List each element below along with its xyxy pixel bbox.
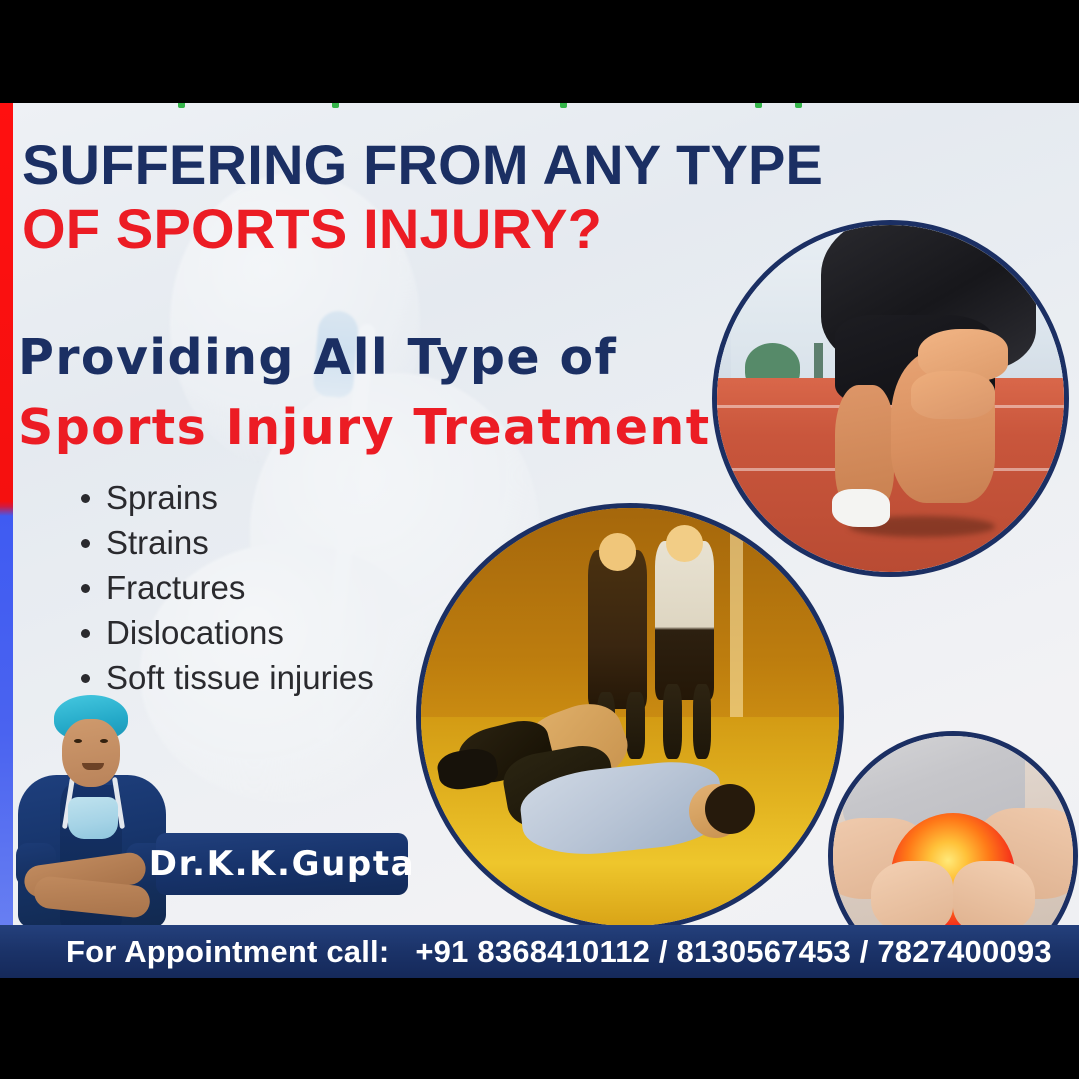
clipped-green-headline [0,103,1079,108]
appointment-phone-numbers: +91 8368410112 / 8130567453 / 7827400093 [415,934,1051,970]
list-item: Dislocations [106,610,374,655]
page-title: SUFFERING FROM ANY TYPE OF SPORTS INJURY… [22,133,823,261]
services-list: Sprains Strains Fractures Dislocations S… [74,475,374,700]
sports-injury-poster: SUFFERING FROM ANY TYPE OF SPORTS INJURY… [0,103,1079,978]
letterbox-bottom [0,978,1079,1079]
doctor-name-badge: Dr.K.K.Gupta [156,833,408,895]
subheading-line-1: Providing All Type of [18,323,711,393]
face-mask [68,797,118,839]
doctor-name: Dr.K.K.Gupta [149,844,415,884]
left-accent-bar [0,103,13,978]
screenshot-frame: SUFFERING FROM ANY TYPE OF SPORTS INJURY… [0,0,1079,1079]
headline-line-2: OF SPORTS INJURY? [22,197,823,261]
subheading-line-2: Sports Injury Treatment [18,393,711,463]
list-item: Sprains [106,475,374,520]
appointment-call-label: For Appointment call: [66,934,389,970]
list-item: Fractures [106,565,374,610]
list-item: Strains [106,520,374,565]
letterbox-top [0,0,1079,103]
injured-soccer-player-photo [416,503,844,931]
doctor-photo [8,693,176,928]
appointment-footer: For Appointment call: +91 8368410112 / 8… [0,925,1079,978]
headline-line-1: SUFFERING FROM ANY TYPE [22,133,823,197]
subheading: Providing All Type of Sports Injury Trea… [18,323,711,462]
